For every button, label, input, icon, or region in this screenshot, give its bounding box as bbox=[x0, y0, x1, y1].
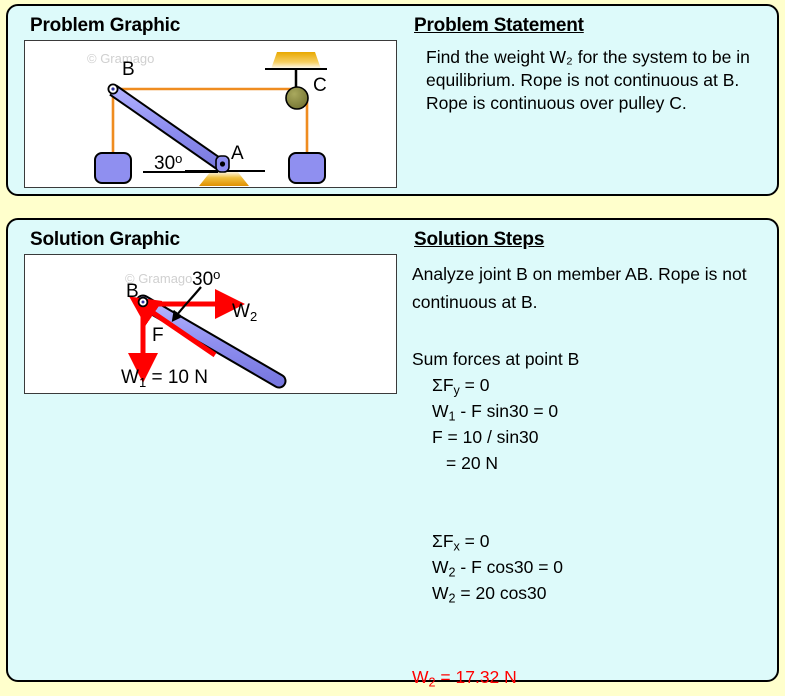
equation-sum-fx-symbol: ΣF bbox=[432, 531, 454, 551]
pin-a-center bbox=[220, 161, 225, 166]
solution-intro-text: Analyze joint B on member AB. Rope is no… bbox=[412, 260, 772, 316]
problem-graphic-heading: Problem Graphic bbox=[30, 15, 180, 37]
equation-sum-fx-rest: = 0 bbox=[460, 531, 490, 551]
equation-w2: W2 - F cos30 = 0 bbox=[412, 554, 772, 580]
final-answer-rest: = 17.32 N bbox=[436, 667, 517, 687]
equation-w1: W1 - F sin30 = 0 bbox=[412, 398, 772, 424]
equation-sum-header: Sum forces at point B bbox=[412, 346, 772, 372]
block-w1 bbox=[95, 153, 131, 183]
equation-w1-symbol: W bbox=[432, 401, 449, 421]
equation-w2b-symbol: W bbox=[432, 583, 449, 603]
equation-spacer-4 bbox=[412, 632, 772, 658]
problem-solution-page: Problem Graphic Problem Statement bbox=[0, 0, 785, 688]
equation-spacer-2 bbox=[412, 502, 772, 528]
equation-f-result: = 20 N bbox=[412, 450, 772, 476]
equation-spacer-3 bbox=[412, 606, 772, 632]
equation-sum-fy: ΣFy = 0 bbox=[412, 372, 772, 398]
label-w1: W1 = 10 N bbox=[121, 367, 208, 390]
final-answer-subscript: 2 bbox=[429, 676, 436, 690]
equation-w2b-subscript: 2 bbox=[449, 592, 456, 606]
equation-spacer-1 bbox=[412, 476, 772, 502]
pin-b-center bbox=[111, 87, 114, 90]
label-point-c: C bbox=[313, 75, 327, 96]
final-answer-symbol: W bbox=[412, 667, 429, 687]
equation-w2-value: W2 = 20 cos30 bbox=[412, 580, 772, 606]
equation-sum-fx: ΣFx = 0 bbox=[412, 528, 772, 554]
equation-w1-rest: - F sin30 = 0 bbox=[456, 401, 559, 421]
equation-f: F = 10 / sin30 bbox=[412, 424, 772, 450]
pin-b-center bbox=[142, 301, 145, 304]
problem-statement-heading: Problem Statement bbox=[414, 15, 584, 37]
label-angle: 30o bbox=[192, 267, 220, 290]
solution-equations: Sum forces at point B ΣFy = 0 W1 - F sin… bbox=[412, 346, 772, 690]
label-point-a: A bbox=[231, 143, 244, 164]
angle-leader-arrow bbox=[177, 287, 201, 315]
equation-sum-fy-symbol: ΣF bbox=[432, 375, 454, 395]
equation-w2-subscript: 2 bbox=[449, 566, 456, 580]
solution-diagram: © Gramago B 30o W2 F bbox=[24, 254, 397, 394]
block-w2 bbox=[289, 153, 325, 183]
ceiling-support-icon bbox=[271, 52, 321, 69]
label-point-b: B bbox=[126, 281, 139, 302]
equation-w2b-rest: = 20 cos30 bbox=[456, 583, 547, 603]
pulley-icon bbox=[286, 87, 308, 109]
problem-panel: Problem Graphic Problem Statement bbox=[6, 4, 779, 196]
problem-statement-text: Find the weight W₂ for the system to be … bbox=[426, 46, 771, 115]
final-answer: W2 = 17.32 N bbox=[412, 664, 772, 690]
label-w2: W2 bbox=[232, 301, 257, 324]
solution-panel: Solution Graphic Solution Steps bbox=[6, 218, 779, 682]
watermark-text: © Gramago bbox=[87, 51, 154, 66]
problem-diagram: © Gramago bbox=[24, 40, 397, 188]
equation-sum-fy-rest: = 0 bbox=[460, 375, 490, 395]
label-point-b: B bbox=[122, 59, 135, 80]
equation-w2-rest: - F cos30 = 0 bbox=[456, 557, 563, 577]
ground-support-icon bbox=[199, 171, 249, 186]
equation-w2-symbol: W bbox=[432, 557, 449, 577]
label-force-f: F bbox=[152, 325, 164, 346]
equation-w1-subscript: 1 bbox=[449, 410, 456, 424]
label-angle: 30o bbox=[154, 151, 182, 174]
solution-graphic-heading: Solution Graphic bbox=[30, 229, 180, 251]
solution-steps-heading: Solution Steps bbox=[414, 229, 544, 251]
